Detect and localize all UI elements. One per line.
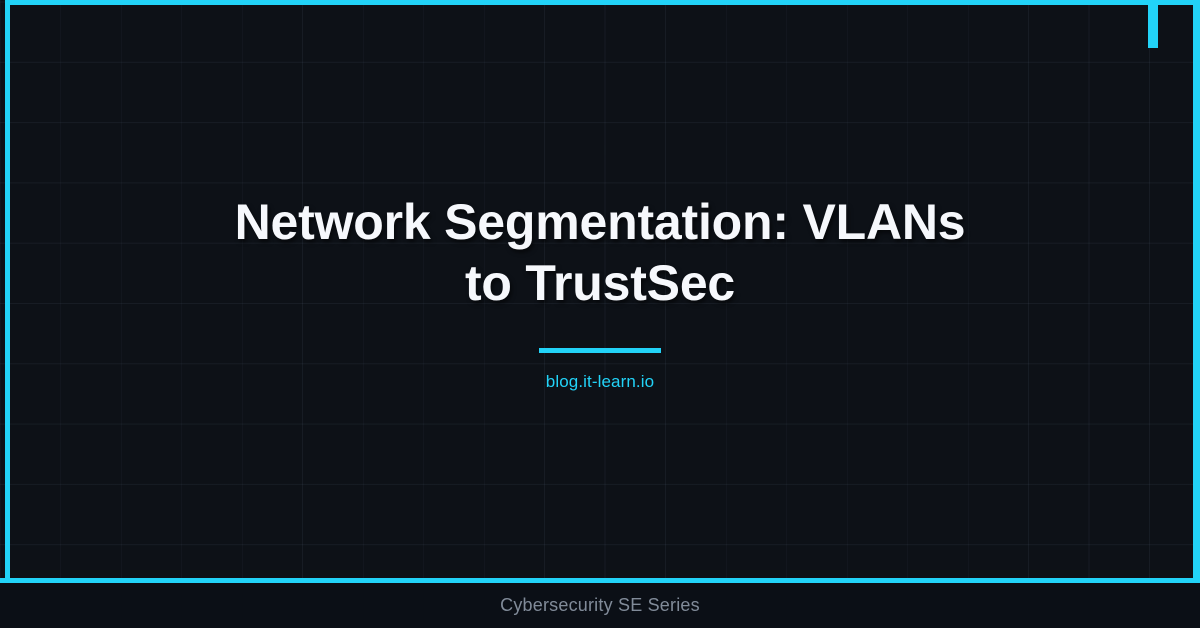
site-url-label: blog.it-learn.io — [546, 372, 654, 392]
footer-strip: Cybersecurity SE Series — [0, 583, 1200, 628]
hero-content: Network Segmentation: VLANs to TrustSec … — [0, 0, 1200, 583]
footer-series-label: Cybersecurity SE Series — [500, 595, 700, 616]
accent-divider — [539, 348, 661, 353]
og-card: Network Segmentation: VLANs to TrustSec … — [0, 0, 1200, 628]
page-title: Network Segmentation: VLANs to TrustSec — [220, 192, 980, 314]
